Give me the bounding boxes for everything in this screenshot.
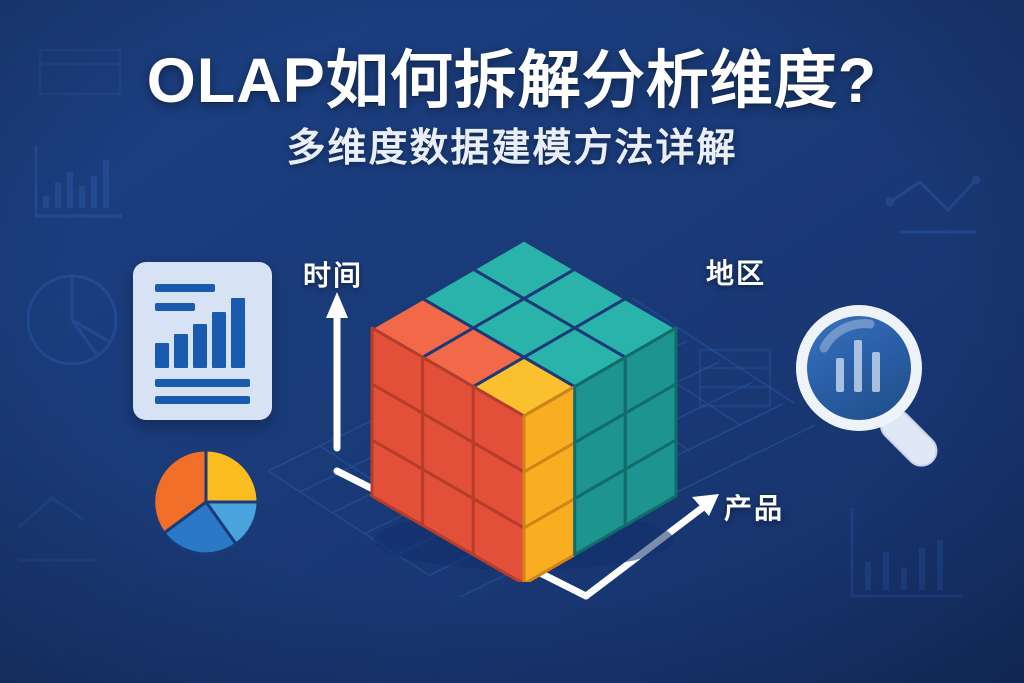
axis-label-product: 产品: [724, 487, 784, 527]
report-card-icon: [133, 262, 272, 420]
axis-label-time: 时间: [303, 254, 363, 294]
pie-chart-icon: [150, 446, 262, 558]
cube-front-slice-yellow: [524, 387, 575, 582]
pie-slice-a: [206, 450, 258, 502]
axis-label-region: 地区: [706, 252, 766, 292]
olap-infographic-poster: OLAP如何拆解分析维度? 多维度数据建模方法详解: [0, 0, 1024, 683]
magnifier-icon: [784, 296, 960, 472]
